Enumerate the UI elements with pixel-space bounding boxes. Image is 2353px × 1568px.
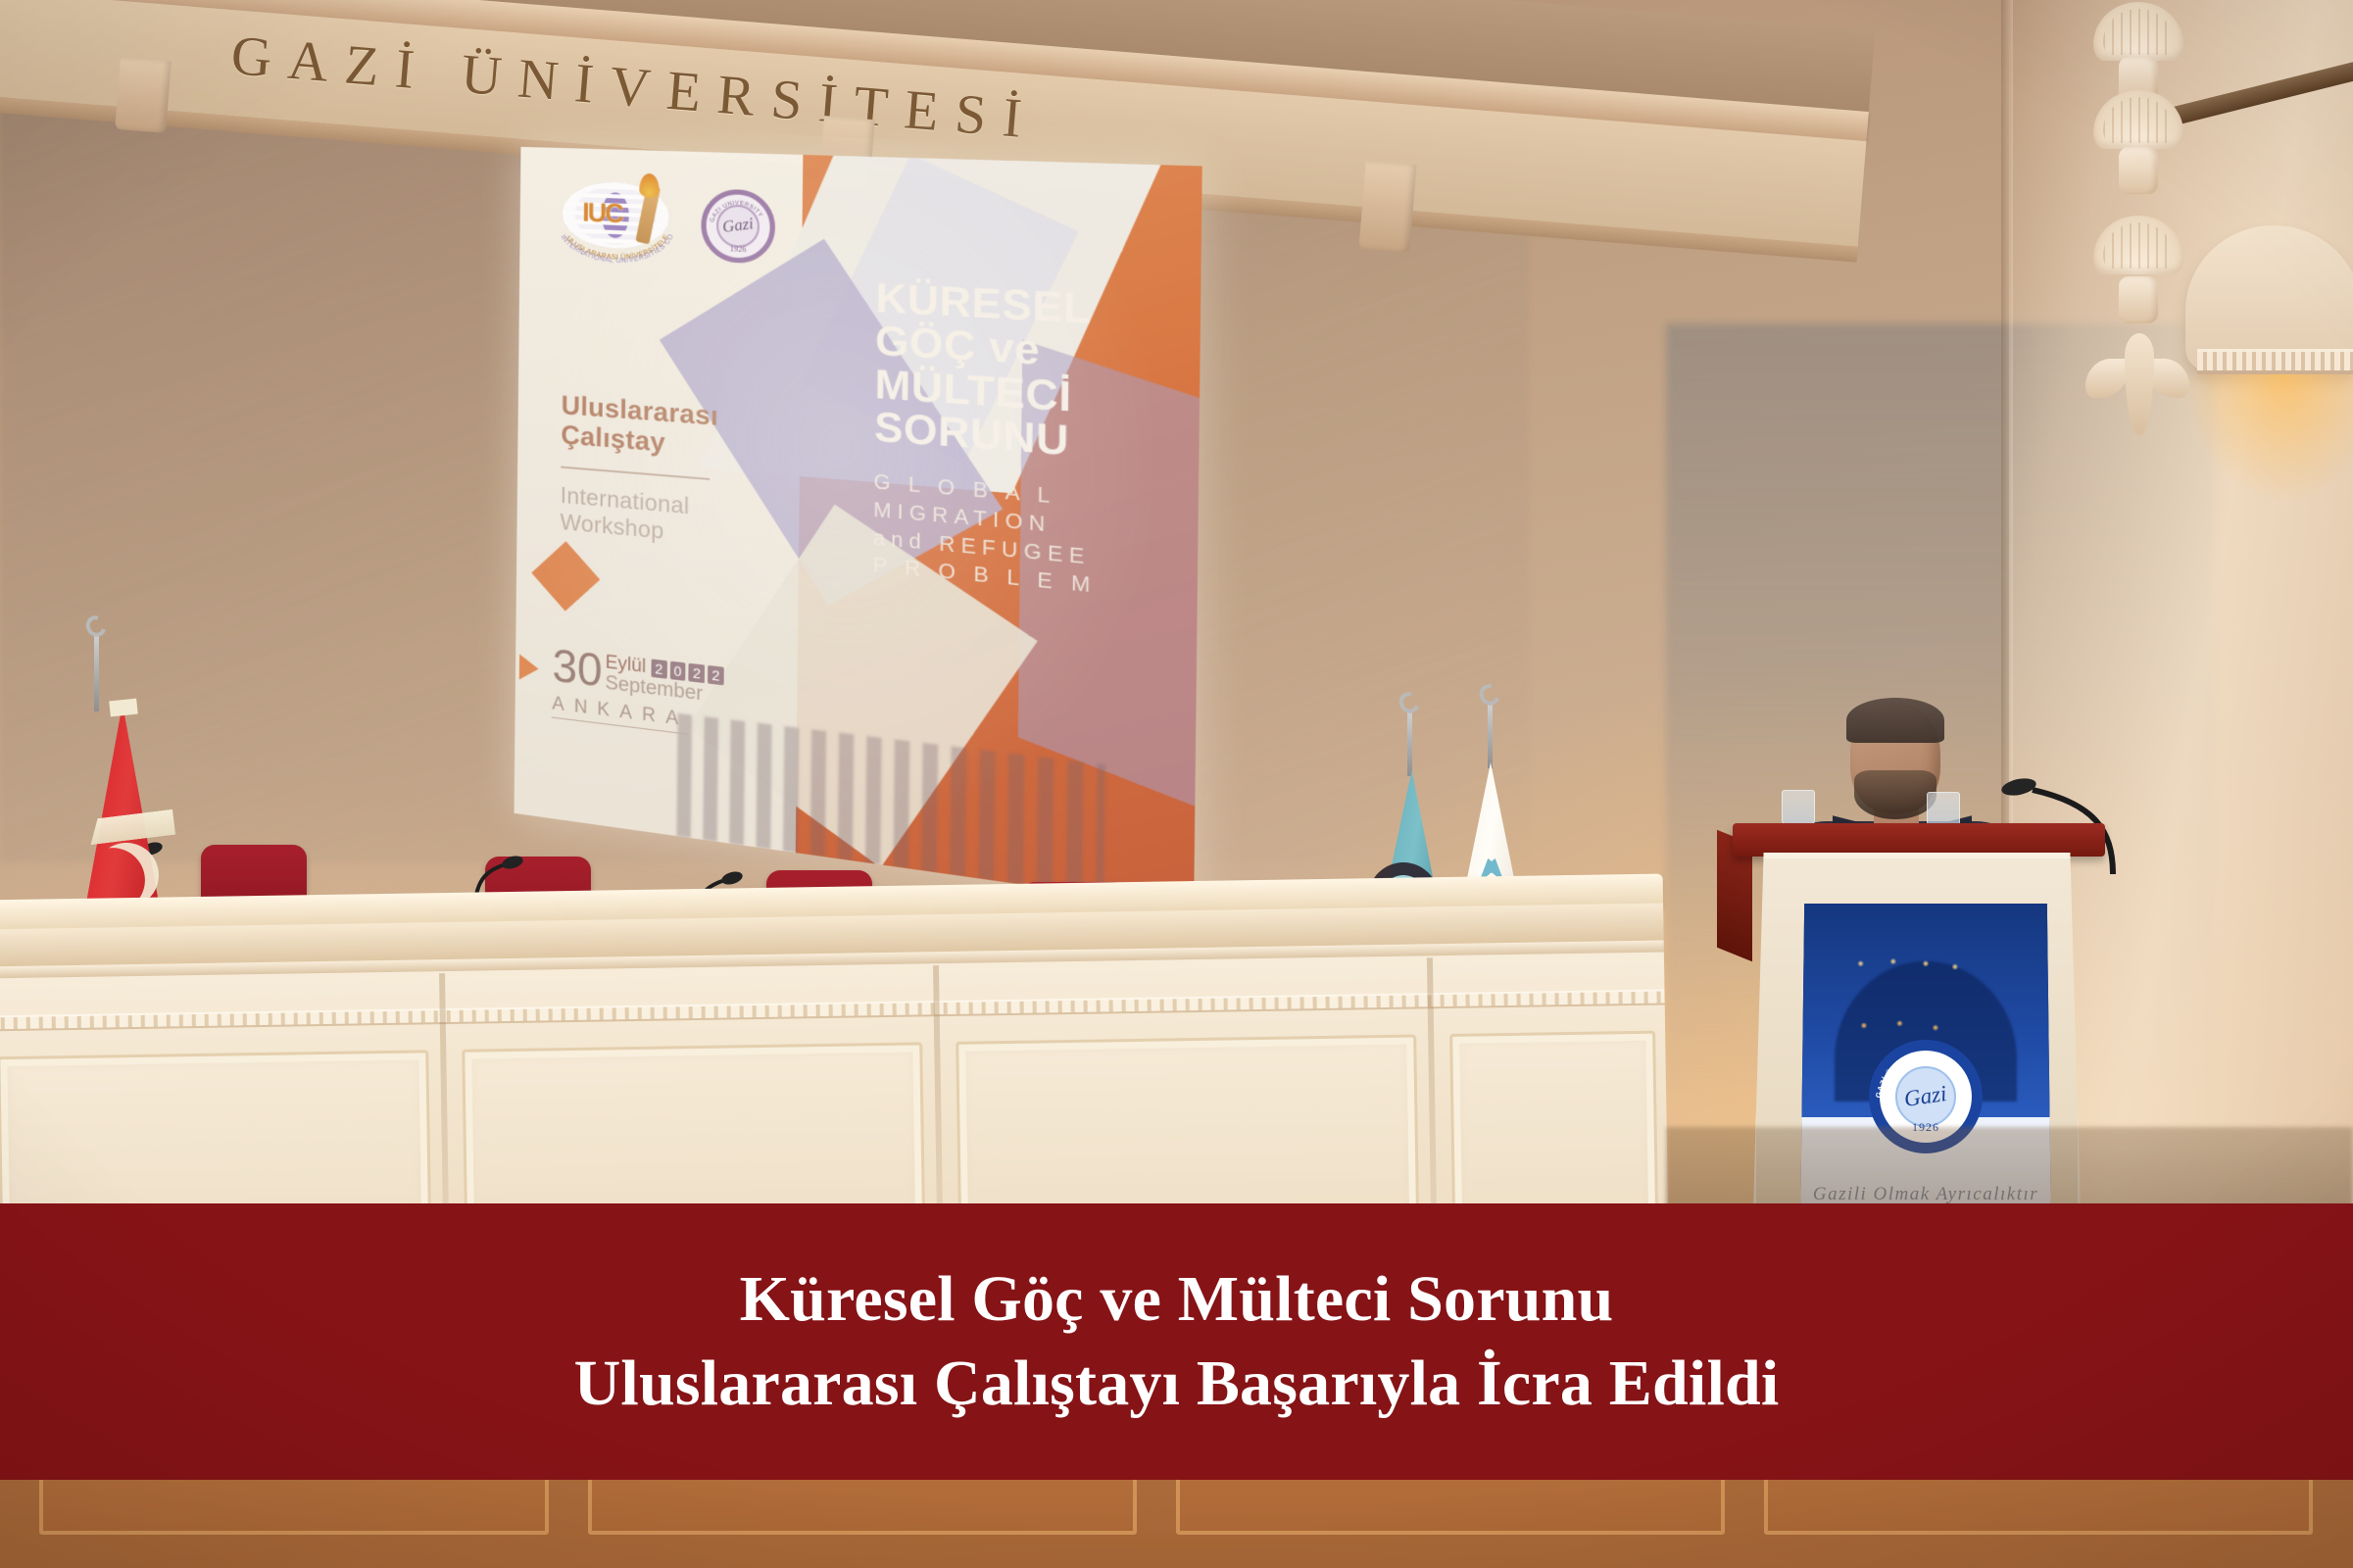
conference-photo: GAZİ ÜNİVERSİTESİ IUC xyxy=(0,0,2353,1568)
column-capital-base xyxy=(2197,349,2353,374)
gazi-university-seal-icon: GAZI UNIVERSITY Gazi 1926 xyxy=(702,188,776,265)
iuc-logo-icon: IUC ULUSLARARASI ÜNİVERSİTELER KONSEYİ I… xyxy=(557,174,676,269)
swag-tassel-icon xyxy=(2091,316,2185,443)
year-digit: 2 xyxy=(708,665,724,686)
swag-shell-icon xyxy=(2093,90,2183,149)
cornice-corbel xyxy=(1358,161,1416,253)
swag-knot-icon xyxy=(2119,147,2158,194)
slide-subtitle-block: G L O B A L MIGRATION and REFUGEE P R O … xyxy=(872,468,1098,601)
date-arrow-icon xyxy=(519,655,539,682)
caption-line-2: Uluslararası Çalıştayı Başarıyla İcra Ed… xyxy=(574,1342,1780,1426)
gazi-seal-signature: Gazi xyxy=(721,216,755,237)
date-day: 30 xyxy=(552,644,602,692)
slide-workshop-block: Uluslararası Çalıştay International Work… xyxy=(560,390,718,549)
year-digit: 0 xyxy=(669,661,685,681)
lectern-top-ledge xyxy=(1733,823,2105,857)
flag-pole xyxy=(94,635,99,711)
turkish-flag-top xyxy=(109,699,138,717)
water-glass xyxy=(1927,792,1960,827)
caption-line-1: Küresel Göç ve Mülteci Sorunu xyxy=(740,1257,1614,1342)
year-digit: 2 xyxy=(651,659,666,679)
swag-shell-icon xyxy=(2093,216,2183,274)
flag-pole xyxy=(1407,711,1412,776)
cornice-corbel xyxy=(115,57,172,133)
flag-pole xyxy=(1488,704,1493,768)
swag-shell-icon xyxy=(2093,2,2183,61)
uplight-glow xyxy=(2185,374,2353,502)
plaster-swag-ornament xyxy=(2085,0,2193,451)
water-glass xyxy=(1782,790,1815,825)
year-digit: 2 xyxy=(689,662,706,683)
divider xyxy=(561,466,710,480)
caption-banner: Küresel Göç ve Mülteci Sorunu Uluslarara… xyxy=(0,1203,2353,1480)
projection-screen: IUC ULUSLARARASI ÜNİVERSİTELER KONSEYİ I… xyxy=(515,147,1202,908)
slide-title-block: KÜRESEL GÖÇ ve MÜLTECİ SORUNU G L O B A … xyxy=(872,277,1100,602)
slide-logos: IUC ULUSLARARASI ÜNİVERSİTELER KONSEYİ I… xyxy=(557,174,776,273)
